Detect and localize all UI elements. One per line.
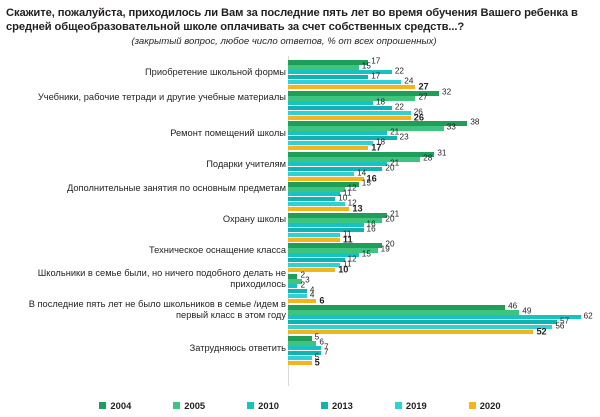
bar-2020 [288,207,349,212]
bar-row: 16 [288,228,600,233]
bar-2020 [288,146,368,151]
bar-2013 [288,167,382,172]
bar-row: 11 [288,238,600,243]
bar-value-label: 5 [315,359,320,367]
bar-row: 11 [288,263,600,268]
bar-row: 13 [288,207,600,212]
legend-swatch-icon [173,402,180,409]
bar-2004 [288,305,505,310]
bar-2010 [288,192,340,197]
bar-2013 [288,75,368,80]
bar-2005 [288,310,519,315]
bar-row: 5 [288,361,600,366]
bar-group-bars: 151211101213 [288,182,600,212]
bar-2019 [288,356,312,361]
bar-row: 4 [288,294,600,299]
bar-row: 10 [288,197,600,202]
bar-row: 22 [288,70,600,75]
bar-row: 15 [288,65,600,70]
bar-row: 62 [288,315,600,320]
bar-group-bars: 232446 [288,274,600,304]
bar-2013 [288,258,345,263]
bar-row: 14 [288,172,600,177]
bar-row: 49 [288,310,600,315]
category-label: Школьники в семье были, но ничего подобн… [4,268,286,290]
bar-value-label: 10 [338,266,348,274]
bar-row: 52 [288,330,600,335]
bar-2020 [288,116,411,121]
bar-2019 [288,325,552,330]
bar-2019 [288,80,401,85]
bar-2020 [288,361,312,366]
bar-row: 33 [288,126,600,131]
bar-2019 [288,111,411,116]
legend-label: 2013 [332,400,353,411]
bar-2020 [288,177,364,182]
bar-row: 4 [288,289,600,294]
bar-row: 20 [288,167,600,172]
bar-row: 28 [288,157,600,162]
bar-row: 2 [288,274,600,279]
legend-item-2019[interactable]: 2019 [395,400,427,411]
bar-row: 24 [288,80,600,85]
bar-row: 5 [288,356,600,361]
bar-2019 [288,233,340,238]
bar-2004 [288,91,439,96]
bar-2004 [288,336,312,341]
bar-row: 3 [288,279,600,284]
bar-row: 15 [288,182,600,187]
bar-2019 [288,294,307,299]
bar-2020 [288,85,415,90]
bar-2005 [288,96,415,101]
bar-2013 [288,320,557,325]
bar-row: 16 [288,177,600,182]
bar-2005 [288,187,345,192]
legend-label: 2004 [110,400,131,411]
legend-item-2004[interactable]: 2004 [99,400,131,411]
bar-2010 [288,101,373,106]
bar-group-bars: 567755 [288,336,600,366]
bar-group-bars: 212016161111 [288,213,600,243]
bar-row: 21 [288,131,600,136]
legend-swatch-icon [395,402,402,409]
bar-row: 32 [288,91,600,96]
legend-label: 2020 [480,400,501,411]
bar-value-label: 52 [536,328,546,336]
bar-row: 12 [288,258,600,263]
bar-2004 [288,121,467,126]
legend-item-2013[interactable]: 2013 [321,400,353,411]
bar-2010 [288,223,364,228]
legend-item-2005[interactable]: 2005 [173,400,205,411]
bar-row: 17 [288,60,600,65]
bar-row: 27 [288,96,600,101]
bar-row: 17 [288,75,600,80]
category-label: Техническое оснащение класса [4,245,286,256]
legend-swatch-icon [469,402,476,409]
bar-2010 [288,346,321,351]
bar-2019 [288,202,345,207]
bar-row: 6 [288,299,600,304]
bar-2005 [288,157,420,162]
bar-value-label: 6 [319,297,324,305]
bar-2013 [288,228,364,233]
bar-2010 [288,284,297,289]
bar-2013 [288,289,307,294]
legend-label: 2019 [406,400,427,411]
chart-legend: 200420052010201320192020 [0,400,600,411]
bar-row: 2 [288,284,600,289]
bar-2005 [288,341,316,346]
bar-row: 31 [288,152,600,157]
bar-group-bars: 312821201416 [288,152,600,182]
category-label: Дополнительные занятия по основным предм… [4,183,286,194]
bar-2005 [288,65,359,70]
bar-row: 21 [288,162,600,167]
category-label: Подарки учителям [4,159,286,170]
bar-row: 20 [288,218,600,223]
bar-row: 38 [288,121,600,126]
bar-row: 11 [288,233,600,238]
bar-2004 [288,213,387,218]
bar-2010 [288,162,387,167]
bar-2004 [288,274,297,279]
category-label: Затрудняюсь ответить [4,343,286,354]
chart-subtitle: (закрытый вопрос, любое число ответов, %… [6,36,592,47]
bar-row: 16 [288,223,600,228]
bar-2019 [288,172,354,177]
title-block: Скажите, пожалуйста, приходилось ли Вам … [0,0,600,47]
legend-label: 2010 [258,400,279,411]
bar-2020 [288,299,316,304]
bar-row: 11 [288,192,600,197]
bar-row: 6 [288,341,600,346]
bar-group-bars: 171522172427 [288,60,600,90]
bar-row: 23 [288,136,600,141]
bar-2020 [288,238,340,243]
bar-row: 12 [288,187,600,192]
bar-2010 [288,315,581,320]
bar-2004 [288,243,382,248]
bar-row: 19 [288,248,600,253]
bar-row: 46 [288,305,600,310]
legend-item-2020[interactable]: 2020 [469,400,501,411]
category-label: Учебники, рабочие тетради и другие учебн… [4,92,286,103]
bar-value-label: 17 [371,144,381,152]
bar-row: 12 [288,202,600,207]
bar-value-label: 13 [352,205,362,213]
bar-value-label: 27 [418,83,428,91]
bar-row: 26 [288,116,600,121]
legend-swatch-icon [321,402,328,409]
bar-group-bars: 383321231817 [288,121,600,151]
bar-row: 57 [288,320,600,325]
bar-row: 26 [288,111,600,116]
bar-row: 56 [288,325,600,330]
bar-2019 [288,141,373,146]
category-label: В последние пять лет не было школьников … [4,299,286,321]
bar-row: 10 [288,268,600,273]
category-label: Ремонт помещений школы [4,128,286,139]
bar-2010 [288,131,387,136]
bar-2019 [288,263,340,268]
bar-chart-plot-area: Приобретение школьной формы171522172427У… [0,56,600,386]
bar-row: 21 [288,213,600,218]
bar-row: 7 [288,351,600,356]
category-label: Приобретение школьной формы [4,67,286,78]
bar-row: 20 [288,243,600,248]
bar-row: 5 [288,336,600,341]
bar-row: 15 [288,253,600,258]
bar-row: 18 [288,141,600,146]
legend-swatch-icon [247,402,254,409]
category-label: Охрану школы [4,214,286,225]
bar-row: 22 [288,106,600,111]
bar-2013 [288,106,392,111]
bar-group-bars: 464962575652 [288,305,600,335]
bar-row: 7 [288,346,600,351]
bar-2004 [288,60,368,65]
bar-group-bars: 201915121110 [288,243,600,273]
bar-row: 18 [288,101,600,106]
bar-group-bars: 322718222626 [288,91,600,121]
legend-item-2010[interactable]: 2010 [247,400,279,411]
page-title: Скажите, пожалуйста, приходилось ли Вам … [6,6,592,34]
bar-2013 [288,197,335,202]
bar-2004 [288,152,434,157]
legend-label: 2005 [184,400,205,411]
bar-2005 [288,126,444,131]
bar-2020 [288,330,533,335]
bar-2020 [288,268,335,273]
legend-swatch-icon [99,402,106,409]
